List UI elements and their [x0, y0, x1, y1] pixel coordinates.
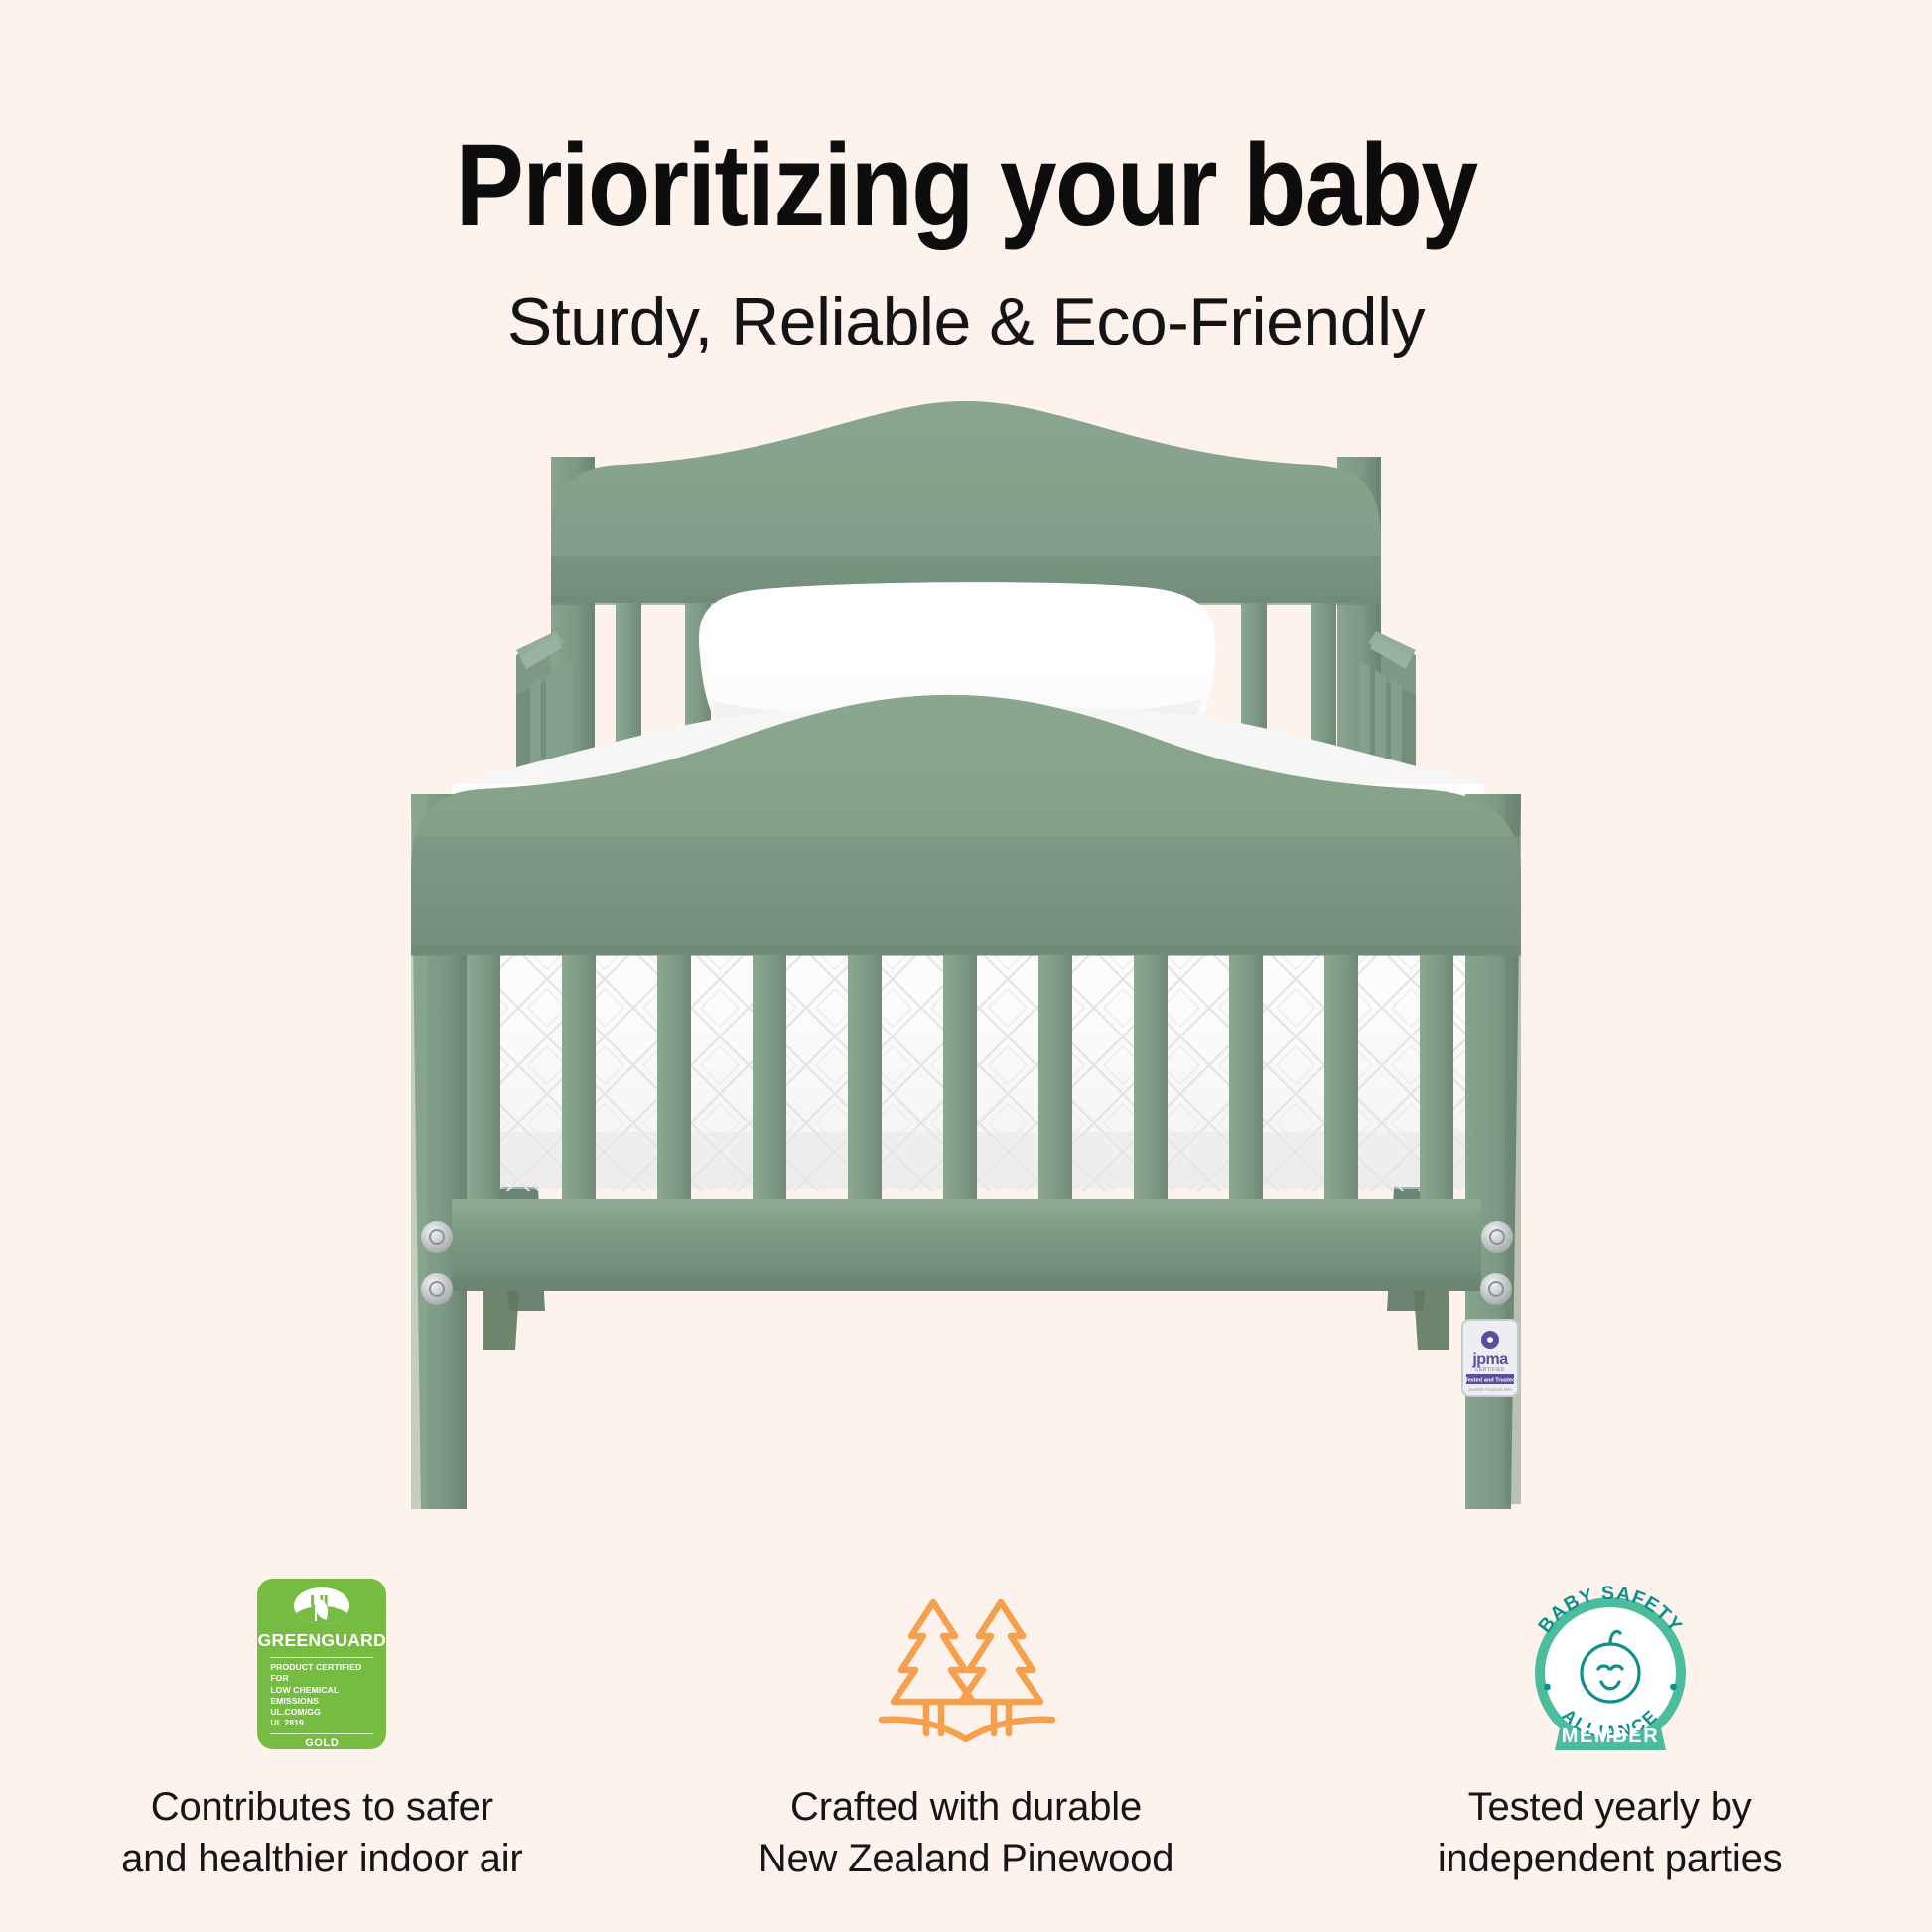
- greenguard-gold-certification-badge-icon: UL GREENGUARD PRODUCT CERTIFIED FOR LOW …: [257, 1565, 386, 1763]
- svg-text:Tested and Trusted: Tested and Trusted: [1465, 1378, 1516, 1384]
- badge-caption: Crafted with durable New Zealand Pinewoo…: [759, 1781, 1173, 1884]
- badge-pinewood: Crafted with durable New Zealand Pinewoo…: [644, 1565, 1289, 1922]
- two-pine-trees-icon: [872, 1565, 1060, 1763]
- greenguard-wordmark: GREENGUARD: [258, 1630, 386, 1651]
- baby-safety-alliance-member-badge-icon: BABY SAFETY ALLIANCE: [1511, 1565, 1710, 1763]
- svg-text:CERTIFIED: CERTIFIED: [1475, 1367, 1505, 1373]
- greenguard-detail-lines: PRODUCT CERTIFIED FOR LOW CHEMICAL EMISS…: [270, 1662, 373, 1728]
- badge-caption: Tested yearly by independent parties: [1438, 1781, 1783, 1884]
- bsa-ribbon-text: MEMBER: [1561, 1725, 1659, 1747]
- promo-graphic: Prioritizing your baby Sturdy, Reliable …: [0, 0, 1932, 1932]
- ul-seal-icon: UL: [294, 1587, 349, 1624]
- divider: [270, 1657, 373, 1658]
- greenguard-tier-label: GOLD: [305, 1737, 339, 1749]
- divider: [270, 1733, 373, 1734]
- badge-baby-safety-alliance: BABY SAFETY ALLIANCE: [1288, 1565, 1932, 1922]
- svg-text:jpma: jpma: [1471, 1351, 1508, 1368]
- badge-caption: Contributes to safer and healthier indoo…: [121, 1781, 522, 1884]
- feature-badges-row: UL GREENGUARD PRODUCT CERTIFIED FOR LOW …: [0, 1565, 1932, 1922]
- badge-greenguard: UL GREENGUARD PRODUCT CERTIFIED FOR LOW …: [0, 1565, 644, 1922]
- jpma-certified-label: jpma CERTIFIED Tested and Trusted Juveni…: [1462, 1320, 1518, 1396]
- svg-text:Juvenile Products Mfrs: Juvenile Products Mfrs: [1468, 1387, 1513, 1392]
